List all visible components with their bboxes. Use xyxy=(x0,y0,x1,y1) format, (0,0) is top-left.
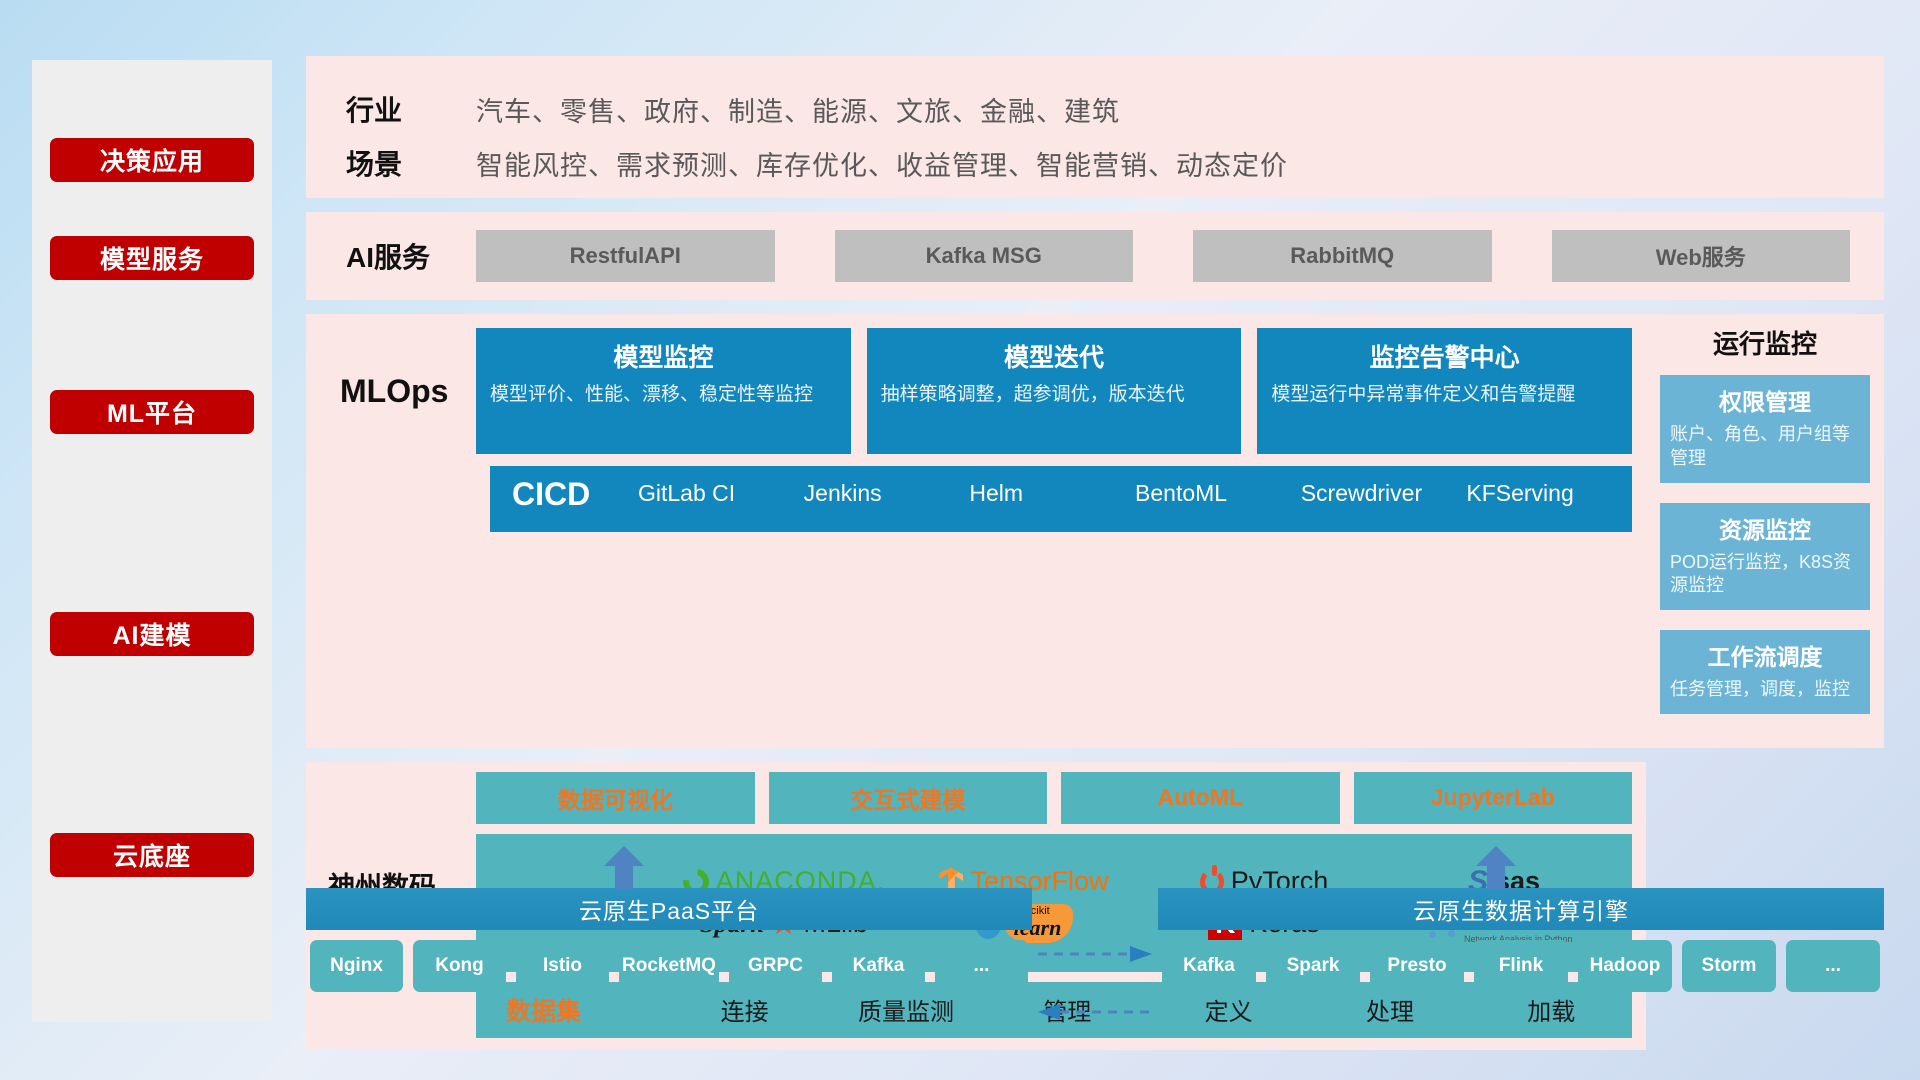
card-desc: POD运行监控，K8S资源监控 xyxy=(1670,551,1860,599)
service-box-web[interactable]: Web服务 xyxy=(1552,230,1851,282)
card-title: 模型迭代 xyxy=(881,338,1228,374)
chip-more-left[interactable]: ... xyxy=(935,940,1028,992)
band-divider-3 xyxy=(306,748,1884,762)
rail-chip-model-service[interactable]: 模型服务 xyxy=(50,236,254,280)
chip-grpc[interactable]: GRPC xyxy=(729,940,822,992)
chip-storm[interactable]: Storm xyxy=(1682,940,1776,992)
rail-chip-ai-modeling[interactable]: AI建模 xyxy=(50,612,254,656)
cicd-item-gitlab-ci[interactable]: GitLab CI xyxy=(638,466,804,507)
card-title: 监控告警中心 xyxy=(1271,338,1618,374)
decision-applications-band: 行业 汽车、零售、政府、制造、能源、文旅、金融、建筑 场景 智能风控、需求预测、… xyxy=(306,56,1884,198)
industry-label: 行业 xyxy=(306,89,476,129)
scenario-row: 场景 智能风控、需求预测、库存优化、收益管理、智能营销、动态定价 xyxy=(306,143,1884,183)
rail-chip-decision[interactable]: 决策应用 xyxy=(50,138,254,182)
arrow-right-dashed-icon xyxy=(1038,946,1152,967)
industry-row: 行业 汽车、零售、政府、制造、能源、文旅、金融、建筑 xyxy=(306,89,1884,129)
cloud-data-engine-block: 云原生数据计算引擎 Kafka Spark Presto Flink Hadoo… xyxy=(1158,888,1884,992)
cicd-item-screwdriver[interactable]: Screwdriver xyxy=(1301,466,1467,507)
arrow-left-dashed-icon xyxy=(1038,1004,1152,1025)
service-box-kafka-msg[interactable]: Kafka MSG xyxy=(835,230,1134,282)
card-title: 资源监控 xyxy=(1670,511,1860,545)
card-title: 工作流调度 xyxy=(1670,638,1860,672)
cicd-item-helm[interactable]: Helm xyxy=(969,466,1135,507)
tab-automl[interactable]: AutoML xyxy=(1061,772,1340,824)
chip-presto[interactable]: Presto xyxy=(1370,940,1464,992)
rail-chip-cloud-base[interactable]: 云底座 xyxy=(50,833,254,877)
arrow-up-paas-icon xyxy=(604,846,644,890)
modeling-tab-list: 数据可视化 交互式建模 AutoML JupyterLab xyxy=(476,772,1632,824)
chip-hadoop[interactable]: Hadoop xyxy=(1578,940,1672,992)
card-title: 模型监控 xyxy=(490,338,837,374)
chip-istio[interactable]: Istio xyxy=(516,940,609,992)
chip-nginx[interactable]: Nginx xyxy=(310,940,403,992)
cloud-data-engine-title: 云原生数据计算引擎 xyxy=(1158,888,1884,930)
chip-kong[interactable]: Kong xyxy=(413,940,506,992)
tab-data-visualization[interactable]: 数据可视化 xyxy=(476,772,755,824)
mlops-label: MLOps xyxy=(306,328,476,454)
runtime-monitor-panel: 运行监控 权限管理 账户、角色、用户组等管理 资源监控 POD运行监控，K8S资… xyxy=(1646,314,1884,748)
card-desc: 账户、角色、用户组等管理 xyxy=(1670,423,1860,471)
card-title: 权限管理 xyxy=(1670,383,1860,417)
mlops-card-alert-center[interactable]: 监控告警中心 模型运行中异常事件定义和告警提醒 xyxy=(1257,328,1632,454)
mlops-card-model-monitoring[interactable]: 模型监控 模型评价、性能、漂移、稳定性等监控 xyxy=(476,328,851,454)
service-box-rabbitmq[interactable]: RabbitMQ xyxy=(1193,230,1492,282)
runtime-monitor-title: 运行监控 xyxy=(1660,324,1870,361)
mlops-card-list: 模型监控 模型评价、性能、漂移、稳定性等监控 模型迭代 抽样策略调整，超参调优，… xyxy=(476,328,1646,454)
cicd-item-jenkins[interactable]: Jenkins xyxy=(804,466,970,507)
tab-jupyterlab[interactable]: JupyterLab xyxy=(1354,772,1633,824)
chip-rocketmq[interactable]: RocketMQ xyxy=(619,940,719,992)
monitor-card-resource[interactable]: 资源监控 POD运行监控，K8S资源监控 xyxy=(1660,503,1870,611)
chip-more-right[interactable]: ... xyxy=(1786,940,1880,992)
monitor-card-permission[interactable]: 权限管理 账户、角色、用户组等管理 xyxy=(1660,375,1870,483)
band-divider-2 xyxy=(306,300,1884,314)
cicd-item-bentoml[interactable]: BentoML xyxy=(1135,466,1301,507)
ai-service-band: AI服务 RestfulAPI Kafka MSG RabbitMQ Web服务 xyxy=(306,212,1884,300)
card-desc: 模型运行中异常事件定义和告警提醒 xyxy=(1271,382,1618,408)
card-desc: 抽样策略调整，超参调优，版本迭代 xyxy=(881,382,1228,408)
cicd-strip: CICD GitLab CI Jenkins Helm BentoML Scre… xyxy=(490,466,1632,532)
monitor-card-workflow[interactable]: 工作流调度 任务管理，调度，监控 xyxy=(1660,630,1870,714)
chip-kafka[interactable]: Kafka xyxy=(832,940,925,992)
chip-kafka-right[interactable]: Kafka xyxy=(1162,940,1256,992)
cloud-paas-block: 云原生PaaS平台 Nginx Kong Istio RocketMQ GRPC… xyxy=(306,888,1032,992)
service-box-restfulapi[interactable]: RestfulAPI xyxy=(476,230,775,282)
tab-interactive-modeling[interactable]: 交互式建模 xyxy=(769,772,1048,824)
scenario-values: 智能风控、需求预测、库存优化、收益管理、智能营销、动态定价 xyxy=(476,144,1288,183)
mlops-card-model-iteration[interactable]: 模型迭代 抽样策略调整，超参调优，版本迭代 xyxy=(867,328,1242,454)
cloud-foundation-zone: 云原生PaaS平台 Nginx Kong Istio RocketMQ GRPC… xyxy=(306,888,1884,1048)
chip-flink[interactable]: Flink xyxy=(1474,940,1568,992)
ai-service-label: AI服务 xyxy=(306,236,476,276)
mlops-band: MLOps 模型监控 模型评价、性能、漂移、稳定性等监控 模型迭代 抽样策略调整… xyxy=(306,314,1646,748)
cloud-data-engine-chip-list: Kafka Spark Presto Flink Hadoop Storm ..… xyxy=(1158,930,1884,992)
layer-rail: 决策应用 模型服务 ML平台 AI建模 云底座 xyxy=(32,60,272,1022)
cicd-label: CICD xyxy=(490,466,638,513)
rail-chip-ml-platform[interactable]: ML平台 xyxy=(50,390,254,434)
band-divider xyxy=(306,198,1884,212)
cicd-item-kfserving[interactable]: KFServing xyxy=(1466,466,1632,507)
cloud-paas-chip-list: Nginx Kong Istio RocketMQ GRPC Kafka ... xyxy=(306,930,1032,992)
cloud-paas-title: 云原生PaaS平台 xyxy=(306,888,1032,930)
industry-values: 汽车、零售、政府、制造、能源、文旅、金融、建筑 xyxy=(476,90,1120,129)
card-desc: 模型评价、性能、漂移、稳定性等监控 xyxy=(490,382,837,408)
arrow-up-data-engine-icon xyxy=(1476,846,1516,890)
scenario-label: 场景 xyxy=(306,143,476,183)
ai-service-box-list: RestfulAPI Kafka MSG RabbitMQ Web服务 xyxy=(476,230,1884,282)
chip-spark[interactable]: Spark xyxy=(1266,940,1360,992)
ml-platform-row: MLOps 模型监控 模型评价、性能、漂移、稳定性等监控 模型迭代 抽样策略调整… xyxy=(306,314,1884,748)
card-desc: 任务管理，调度，监控 xyxy=(1670,678,1860,702)
